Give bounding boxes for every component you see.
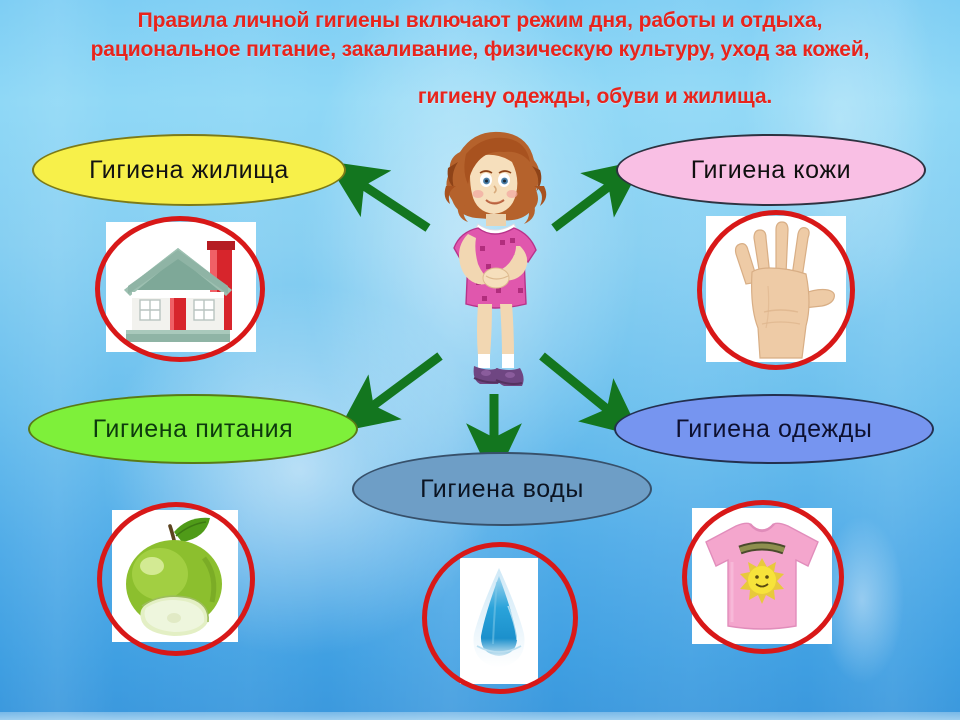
sidebar-item-water[interactable]: Гигиена воды (352, 452, 652, 526)
slide-canvas: Правила личной гигиены включают режим дн… (0, 0, 960, 720)
tshirt-picture-card (692, 508, 832, 644)
node-label-water: Гигиена воды (420, 477, 584, 502)
node-label-housing: Гигиена жилища (89, 158, 289, 183)
sidebar-item-clothes[interactable]: Гигиена одежды (614, 394, 934, 464)
title-line-2: рациональное питание, закаливание, физич… (0, 35, 960, 64)
girl-illustration (424, 128, 564, 396)
sidebar-item-food[interactable]: Гигиена питания (28, 394, 358, 464)
house-illustration (106, 222, 256, 352)
apple-picture-card (112, 510, 238, 642)
node-label-skin: Гигиена кожи (691, 158, 851, 183)
waterdrop-picture-card (460, 558, 538, 684)
sidebar-item-skin[interactable]: Гигиена кожи (616, 134, 926, 206)
title-line-3: гигиену одежды, обуви и жилища. (0, 82, 960, 111)
slide-bottom-edge (0, 712, 960, 720)
sidebar-item-housing[interactable]: Гигиена жилища (32, 134, 346, 206)
girl-figure (424, 128, 564, 396)
apple-illustration (112, 510, 238, 642)
node-label-clothes: Гигиена одежды (676, 417, 873, 442)
house-picture-card (106, 222, 256, 352)
page-title: Правила личной гигиены включают режим дн… (0, 6, 960, 111)
arrow-to-housing (352, 178, 428, 228)
hand-picture-card (706, 216, 846, 362)
waterdrop-illustration (460, 558, 538, 684)
node-label-food: Гигиена питания (93, 417, 294, 442)
hand-illustration (706, 216, 846, 362)
tshirt-illustration (692, 508, 832, 644)
title-line-1: Правила личной гигиены включают режим дн… (0, 6, 960, 35)
